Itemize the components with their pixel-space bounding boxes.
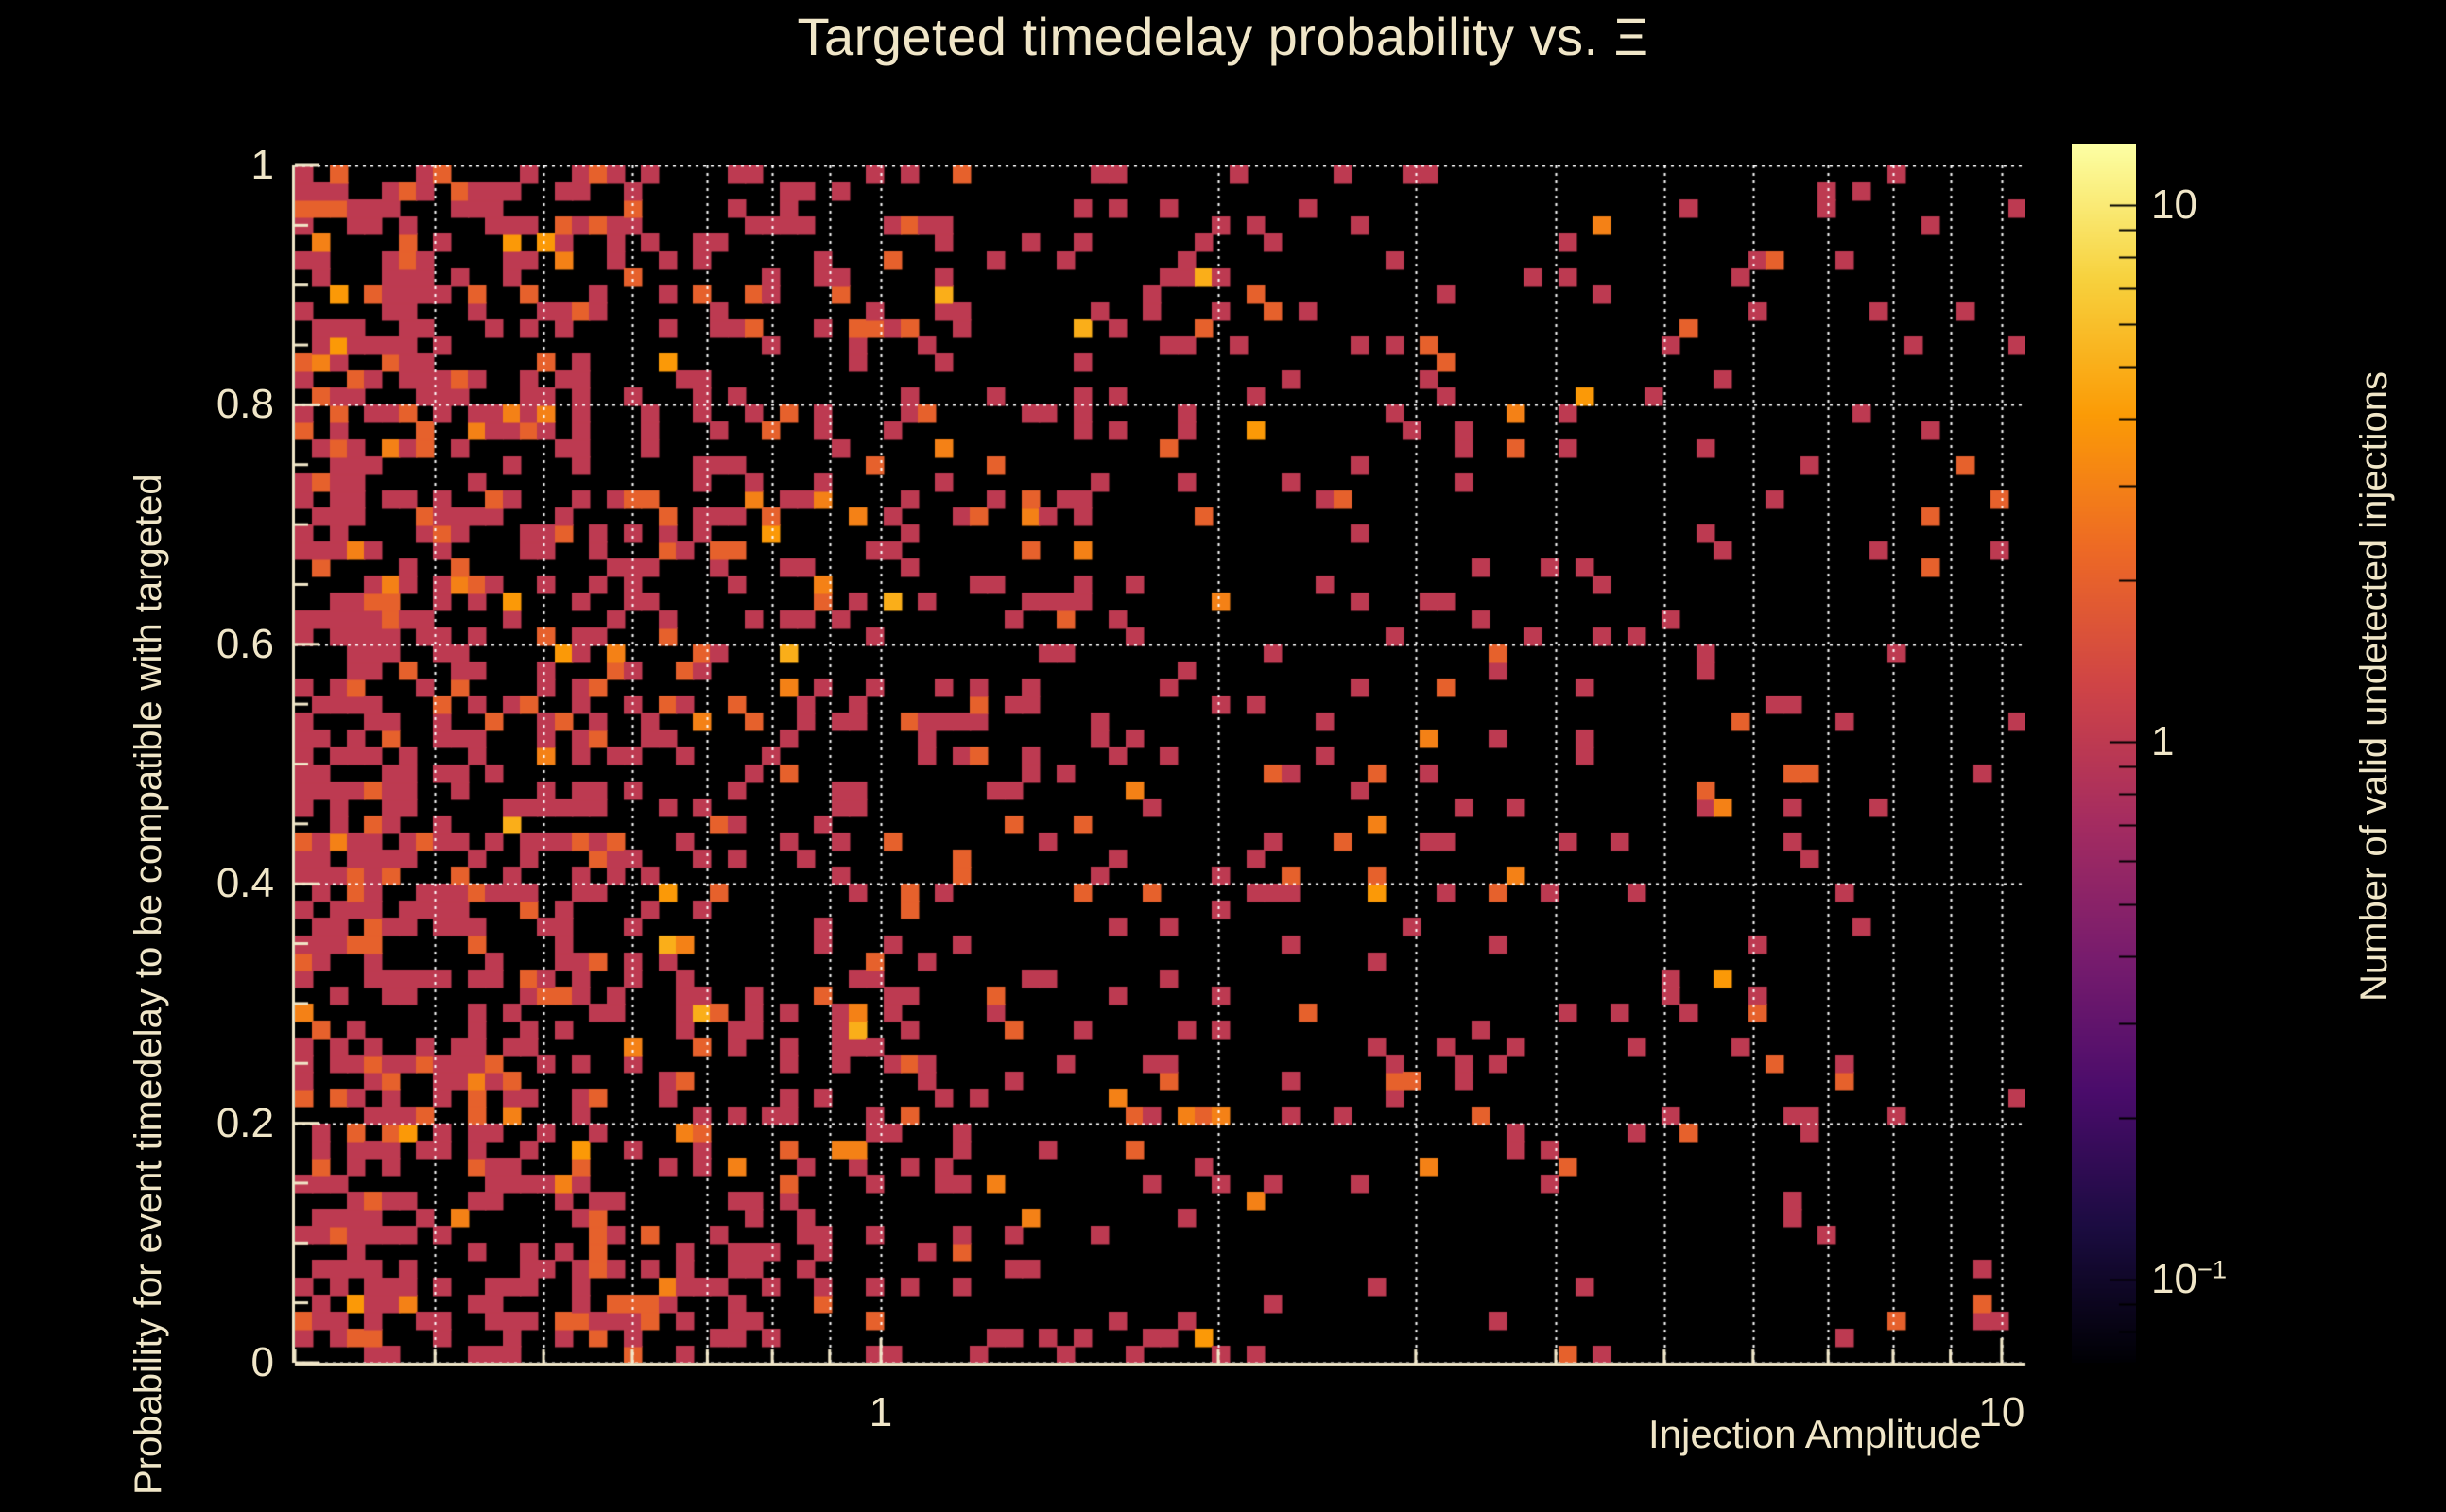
y-tick-label: 0.6 <box>216 621 274 668</box>
colorbar-title: Number of valid undetected injections <box>2353 371 2396 1002</box>
colorbar-tick-exponent: −1 <box>2197 1254 2227 1283</box>
colorbar-tick-label: 1 <box>2151 718 2174 765</box>
x-tick-label: 10 <box>1978 1389 2024 1436</box>
page-title: Targeted timedelay probability vs. Ξ <box>0 6 2446 67</box>
colorbar <box>2072 144 2136 1363</box>
y-tick-label: 0.8 <box>216 381 274 428</box>
x-tick-label: 1 <box>870 1389 892 1436</box>
y-tick-label: 0 <box>251 1339 274 1386</box>
heatmap-cells <box>295 165 2025 1363</box>
y-tick-label: 1 <box>251 142 274 189</box>
chart-root: Targeted timedelay probability vs. Ξ Pro… <box>0 0 2446 1512</box>
colorbar-tick-label: 10 <box>2151 181 2197 229</box>
colorbar-tick-label: 10−1 <box>2151 1256 2227 1303</box>
y-tick-label: 0.4 <box>216 860 274 907</box>
x-axis-title: Injection Amplitude <box>1648 1412 1982 1457</box>
heatmap-plot-area <box>295 165 2025 1363</box>
colorbar-ticks <box>2072 144 2136 1363</box>
y-tick-label: 0.2 <box>216 1100 274 1147</box>
colorbar-tick-base: 10 <box>2151 1256 2197 1302</box>
y-axis-title: Probability for event timedelay to be co… <box>128 473 170 1495</box>
